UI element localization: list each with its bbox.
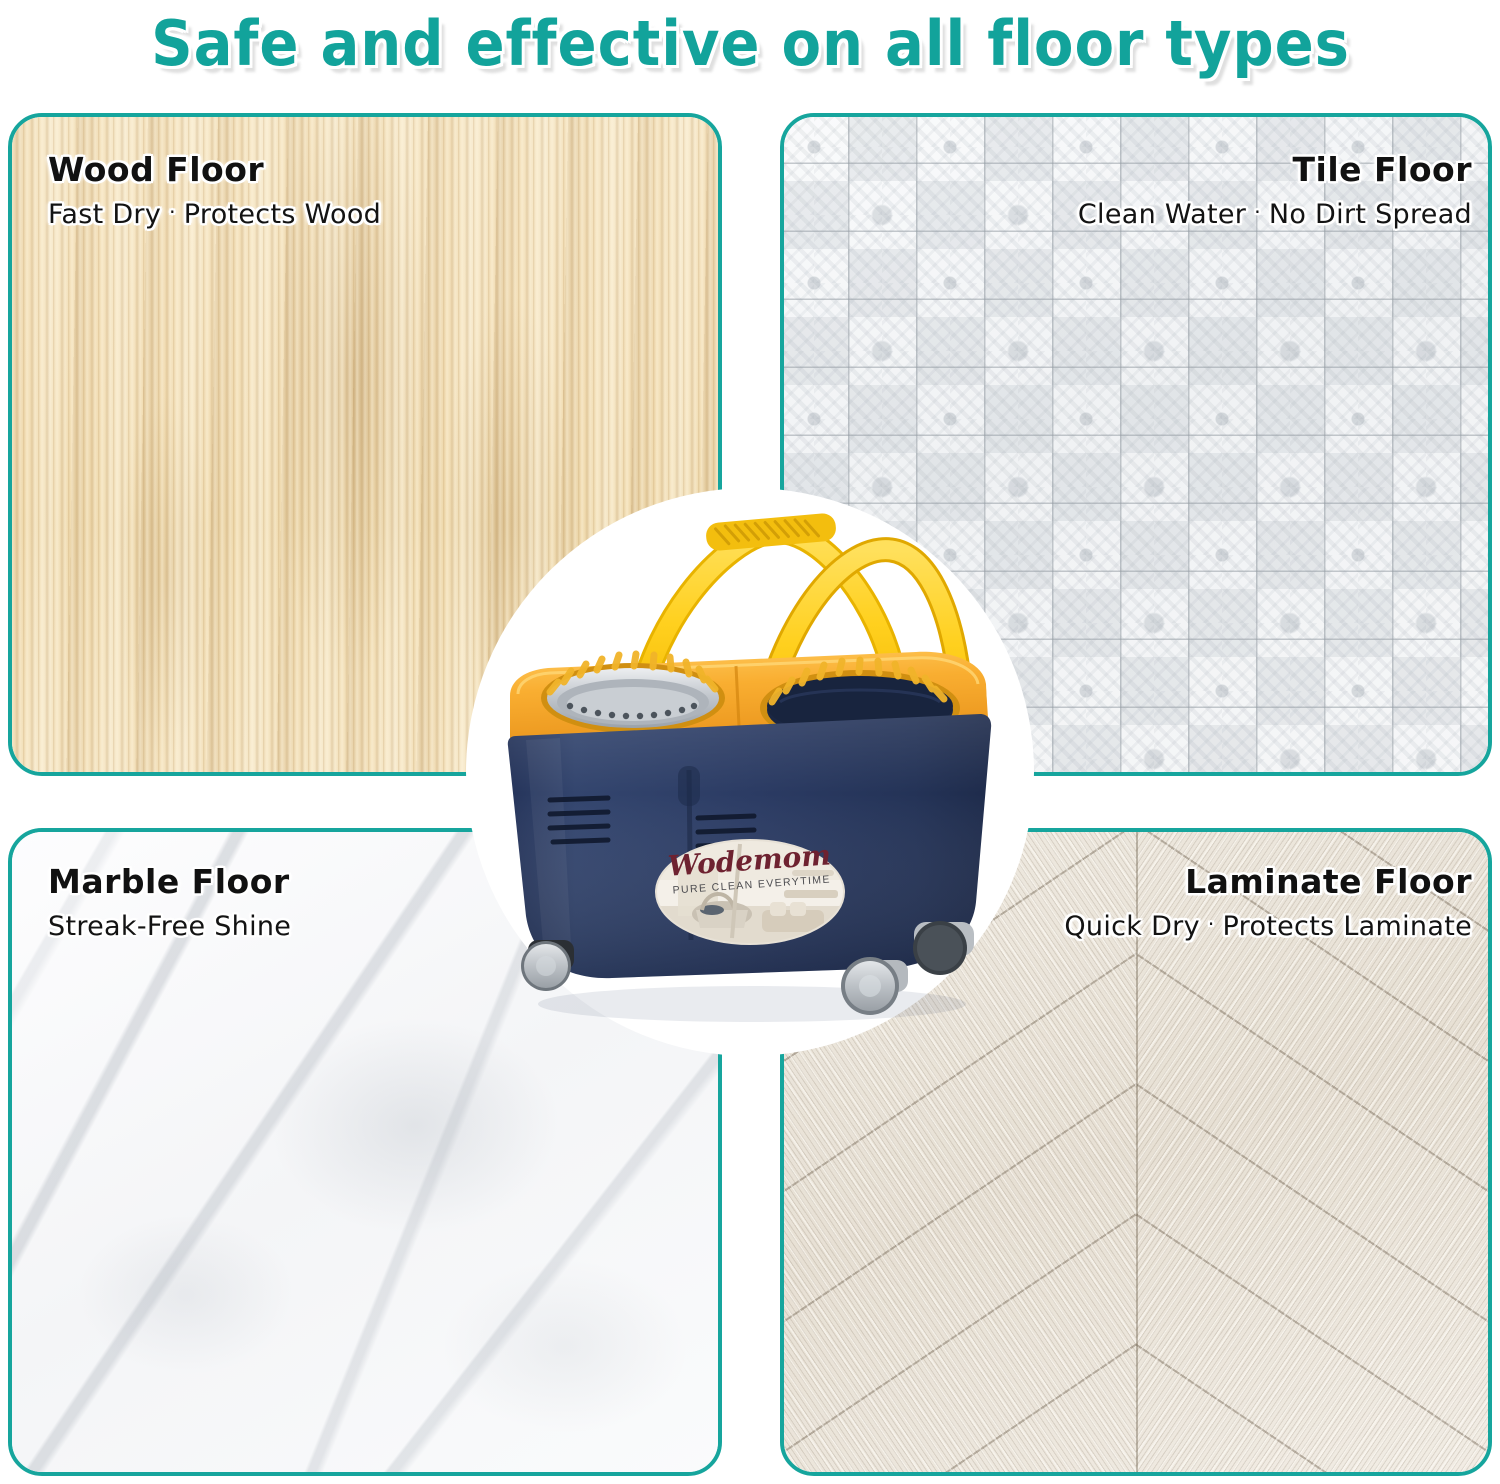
caster-wheel-front-left <box>521 940 574 991</box>
label-block-wood: Wood Floor Fast Dry·Protects Wood <box>48 150 381 230</box>
benefit-wood-2: Protects Wood <box>184 199 381 230</box>
benefit-wood-1: Fast Dry <box>48 199 161 230</box>
benefit-laminate-1: Quick Dry <box>1064 911 1200 942</box>
product-shadow <box>538 986 966 1022</box>
panel-benefits-wood: Fast Dry·Protects Wood <box>48 199 381 230</box>
label-block-tile: Tile Floor Clean Water·No Dirt Spread <box>1078 150 1472 230</box>
benefit-separator-icon: · <box>1200 912 1223 936</box>
benefit-separator-icon: · <box>161 200 184 224</box>
caster-wheel-rear-right <box>913 921 974 975</box>
page-title-bar: Safe and effective on all floor types <box>0 0 1500 86</box>
benefit-separator-icon: · <box>1246 200 1269 224</box>
label-block-marble: Marble Floor Streak-Free Shine <box>48 862 291 942</box>
product-image-spin-mop-bucket: Wodemom PURE CLEAN EVERYTIME <box>440 470 1060 1090</box>
panel-benefits-marble: Streak-Free Shine <box>48 911 291 942</box>
benefit-marble-1: Streak-Free Shine <box>48 911 291 942</box>
panel-title-laminate: Laminate Floor <box>1064 862 1472 901</box>
benefit-laminate-2: Protects Laminate <box>1223 911 1472 942</box>
label-block-laminate: Laminate Floor Quick Dry·Protects Lamina… <box>1064 862 1472 942</box>
panel-title-wood: Wood Floor <box>48 150 381 189</box>
panel-benefits-tile: Clean Water·No Dirt Spread <box>1078 199 1472 230</box>
brand-label: Wodemom PURE CLEAN EVERYTIME <box>656 838 844 944</box>
panel-title-tile: Tile Floor <box>1078 150 1472 189</box>
page-title: Safe and effective on all floor types <box>151 7 1350 80</box>
panel-title-marble: Marble Floor <box>48 862 291 901</box>
panel-benefits-laminate: Quick Dry·Protects Laminate <box>1064 911 1472 942</box>
benefit-tile-1: Clean Water <box>1078 199 1246 230</box>
benefit-tile-2: No Dirt Spread <box>1269 199 1472 230</box>
